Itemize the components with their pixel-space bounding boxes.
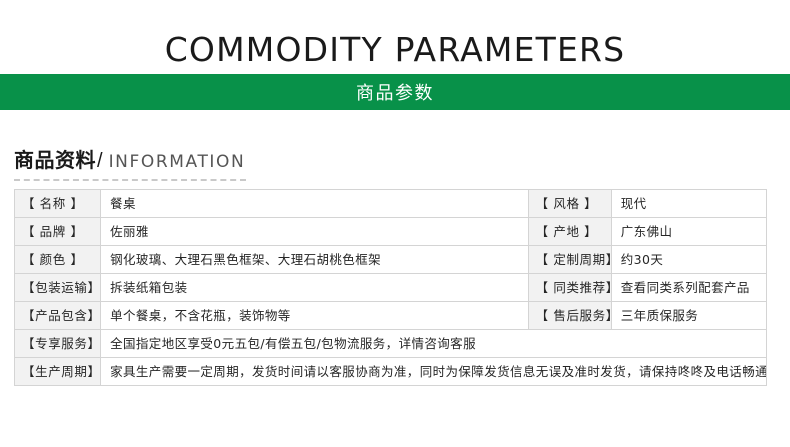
section-heading-en: INFORMATION (109, 152, 246, 172)
spec-label: 【 产地 】 (528, 218, 611, 246)
table-row: 【 品牌 】 佐丽雅 【 产地 】 广东佛山 (15, 218, 767, 246)
banner-label: 商品参数 (356, 79, 434, 105)
spec-label: 【 名称 】 (15, 190, 101, 218)
spec-table-body: 【 名称 】 餐桌 【 风格 】 现代 【 品牌 】 佐丽雅 【 产地 】 广东… (15, 190, 767, 386)
spec-value: 广东佛山 (611, 218, 766, 246)
spec-label: 【专享服务】 (15, 330, 101, 358)
spec-label: 【包装运输】 (15, 274, 101, 302)
table-row: 【包装运输】 拆装纸箱包装 【 同类推荐】 查看同类系列配套产品 (15, 274, 767, 302)
spec-value: 三年质保服务 (611, 302, 766, 330)
table-row: 【产品包含】 单个餐桌，不含花瓶，装饰物等 【 售后服务】 三年质保服务 (15, 302, 767, 330)
spec-label: 【 颜色 】 (15, 246, 101, 274)
spec-label: 【产品包含】 (15, 302, 101, 330)
section-heading: 商品资料 / INFORMATION (14, 144, 790, 173)
specification-table: 【 名称 】 餐桌 【 风格 】 现代 【 品牌 】 佐丽雅 【 产地 】 广东… (14, 189, 767, 386)
spec-value: 单个餐桌，不含花瓶，装饰物等 (101, 302, 529, 330)
section-heading-slash: / (97, 150, 103, 173)
table-row: 【专享服务】 全国指定地区享受0元五包/有偿五包/包物流服务，详情咨询客服 (15, 330, 767, 358)
spec-label: 【 风格 】 (528, 190, 611, 218)
spec-value: 餐桌 (101, 190, 529, 218)
spec-value: 全国指定地区享受0元五包/有偿五包/包物流服务，详情咨询客服 (101, 330, 767, 358)
section-divider (14, 179, 246, 181)
green-banner: 商品参数 (0, 74, 790, 110)
spec-value: 佐丽雅 (101, 218, 529, 246)
commodity-parameters-page: COMMODITY PARAMETERS 商品参数 商品资料 / INFORMA… (0, 0, 790, 447)
spec-label: 【 同类推荐】 (528, 274, 611, 302)
spec-value-recommendation[interactable]: 查看同类系列配套产品 (611, 274, 766, 302)
spec-label: 【生产周期】 (15, 358, 101, 386)
table-row: 【 颜色 】 钢化玻璃、大理石黑色框架、大理石胡桃色框架 【 定制周期】 约30… (15, 246, 767, 274)
spec-value: 现代 (611, 190, 766, 218)
spec-value: 约30天 (611, 246, 766, 274)
section-heading-cn: 商品资料 (14, 144, 96, 173)
page-title-english: COMMODITY PARAMETERS (0, 0, 790, 72)
spec-value: 拆装纸箱包装 (101, 274, 529, 302)
spec-label: 【 品牌 】 (15, 218, 101, 246)
spec-value: 钢化玻璃、大理石黑色框架、大理石胡桃色框架 (101, 246, 529, 274)
spec-value: 家具生产需要一定周期，发货时间请以客服协商为准，同时为保障发货信息无误及准时发货… (101, 358, 767, 386)
spec-label: 【 售后服务】 (528, 302, 611, 330)
table-row: 【生产周期】 家具生产需要一定周期，发货时间请以客服协商为准，同时为保障发货信息… (15, 358, 767, 386)
spec-label: 【 定制周期】 (528, 246, 611, 274)
table-row: 【 名称 】 餐桌 【 风格 】 现代 (15, 190, 767, 218)
